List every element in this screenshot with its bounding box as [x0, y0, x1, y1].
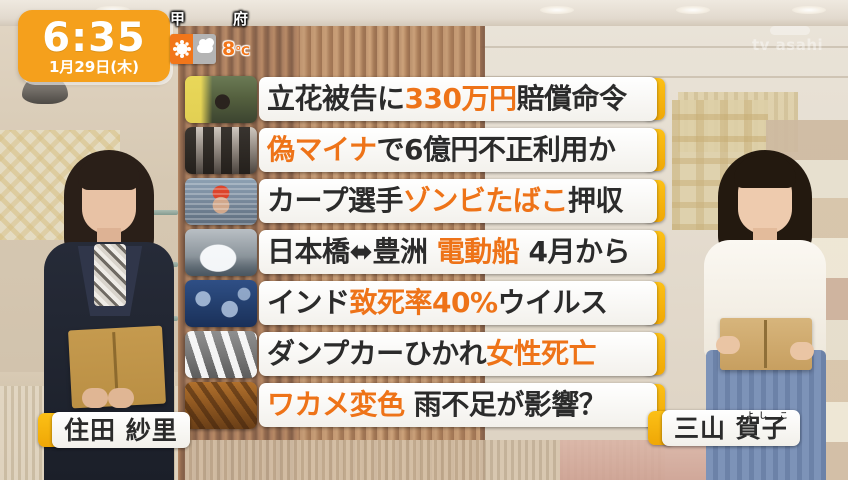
headline-banner[interactable]: 日本橋⬌豊洲 電動船 4月から [259, 230, 665, 274]
headline-plain: 立花被告に [267, 82, 405, 115]
headline-banner[interactable]: 偽マイナで6億円不正利用か [259, 128, 665, 172]
headline-keyword: ワカメ変色 [267, 388, 405, 421]
headline-row[interactable]: インド致死率40%ウイルス [185, 278, 665, 328]
thumb-my-number-suspects[interactable] [185, 127, 257, 174]
weather-city-name: 甲 府 [170, 12, 248, 27]
headline-plain: ウイルス [498, 286, 608, 319]
presenter-hand [790, 342, 814, 360]
thumb-carp-player[interactable] [185, 178, 257, 225]
headline-keyword: ゾンビたばこ [403, 184, 568, 217]
nameplate-left: 住田 紗里 [38, 412, 190, 448]
headline-text: カープ選手ゾンビたばこ押収 [267, 187, 623, 215]
headline-keyword: 偽マイナ [267, 133, 376, 166]
headline-row[interactable]: 偽マイナで6億円不正利用か [185, 125, 665, 175]
headline-banner-body: 日本橋⬌豊洲 電動船 4月から [259, 230, 657, 274]
ceiling-light [676, 6, 710, 14]
presenter-scarf [94, 244, 126, 306]
headline-text: ワカメ変色 雨不足が影響？ [267, 391, 606, 419]
headline-text: 立花被告に330万円賠償命令 [267, 85, 626, 113]
clock-time: 6:35 [42, 18, 146, 58]
headline-list: 立花被告に330万円賠償命令偽マイナで6億円不正利用かカープ選手ゾンビたばこ押収… [185, 74, 665, 431]
headline-keyword: 致死率40% [350, 286, 498, 319]
weather-city-char-2: 府 [233, 12, 248, 27]
headline-text: 偽マイナで6億円不正利用か [267, 136, 615, 164]
headline-plain: インド [267, 286, 350, 319]
presenter-bangs [78, 156, 140, 190]
headline-row[interactable]: 日本橋⬌豊洲 電動船 4月から [185, 227, 665, 277]
thumb-virus-micrograph[interactable] [185, 280, 257, 327]
headline-banner-body: カープ選手ゾンビたばこ押収 [259, 179, 657, 223]
headline-plain: 雨不足が影響？ [405, 388, 607, 421]
ceiling-light [792, 6, 826, 14]
headline-keyword: 330万円 [405, 82, 517, 115]
clock-date: 1月29日(木) [49, 60, 139, 75]
headline-row[interactable]: ダンプカーひかれ女性死亡 [185, 329, 665, 379]
headline-banner[interactable]: カープ選手ゾンビたばこ押収 [259, 179, 665, 223]
headline-banner-body: ダンプカーひかれ女性死亡 [259, 332, 657, 376]
temperature-value: 8 [222, 38, 235, 60]
headline-row[interactable]: ワカメ変色 雨不足が影響？ [185, 380, 665, 430]
headline-banner-body: 立花被告に330万円賠償命令 [259, 77, 657, 121]
headline-text: ダンプカーひかれ女性死亡 [267, 340, 596, 368]
weather-icon-pair [170, 34, 216, 64]
headline-banner[interactable]: 立花被告に330万円賠償命令 [259, 77, 665, 121]
nameplate-right: よし こ 三山 賀子 [648, 410, 800, 446]
station-logo-bar [770, 26, 810, 35]
headline-plain: で6億円不正利用か [376, 133, 615, 166]
headline-text: 日本橋⬌豊洲 電動船 4月から [267, 238, 630, 266]
thumb-crosswalk-accident[interactable] [185, 331, 257, 378]
cloud-icon [193, 34, 216, 64]
headline-row[interactable]: 立花被告に330万円賠償命令 [185, 74, 665, 124]
headline-plain: カープ選手 [267, 184, 403, 217]
nameplate-body: よし こ 三山 賀子 [662, 410, 800, 446]
temperature-unit: ℃ [235, 44, 250, 58]
headline-banner[interactable]: インド致死率40%ウイルス [259, 281, 665, 325]
headline-keyword: 電動船 [437, 235, 520, 268]
presenter-hand [82, 388, 108, 408]
thumb-tachibana-press[interactable] [185, 76, 257, 123]
presenter-left-name: 住田 紗里 [64, 418, 178, 443]
presenter-bangs [734, 156, 796, 188]
headline-banner[interactable]: ワカメ変色 雨不足が影響？ [259, 383, 665, 427]
headline-row[interactable]: カープ選手ゾンビたばこ押収 [185, 176, 665, 226]
presenter-hand [108, 388, 134, 408]
weather-widget: 甲 府 8℃ [170, 12, 248, 70]
thumb-electric-boat[interactable] [185, 229, 257, 276]
weather-city-char-1: 甲 [170, 12, 185, 27]
presenter-hand [716, 336, 740, 354]
presenter-right-furigana: よし こ [746, 412, 793, 420]
thumb-wakame-seaweed[interactable] [185, 382, 257, 429]
headline-plain: 押収 [568, 184, 623, 217]
ceiling-light [540, 6, 574, 14]
headline-banner-body: ワカメ変色 雨不足が影響？ [259, 383, 657, 427]
weather-temperature: 8℃ [222, 40, 250, 59]
headline-plain: 日本橋⬌豊洲 [267, 235, 437, 268]
weather-readout: 8℃ [170, 34, 250, 64]
headline-keyword: 女性死亡 [486, 337, 596, 370]
headline-plain: ダンプカーひかれ [267, 337, 486, 370]
headline-plain: 4月から [519, 235, 630, 268]
broadcast-screen: 6:35 1月29日(木) 甲 府 8℃ tv asahi 立花被告に330万円… [0, 0, 848, 480]
headline-banner-body: 偽マイナで6億円不正利用か [259, 128, 657, 172]
headline-banner[interactable]: ダンプカーひかれ女性死亡 [259, 332, 665, 376]
station-watermark: tv asahi [752, 36, 823, 54]
headline-plain: 賠償命令 [516, 82, 626, 115]
nameplate-body: 住田 紗里 [52, 412, 190, 448]
headline-banner-body: インド致死率40%ウイルス [259, 281, 657, 325]
clock-widget: 6:35 1月29日(木) [18, 10, 170, 82]
headline-text: インド致死率40%ウイルス [267, 289, 608, 317]
sun-icon [170, 34, 193, 64]
